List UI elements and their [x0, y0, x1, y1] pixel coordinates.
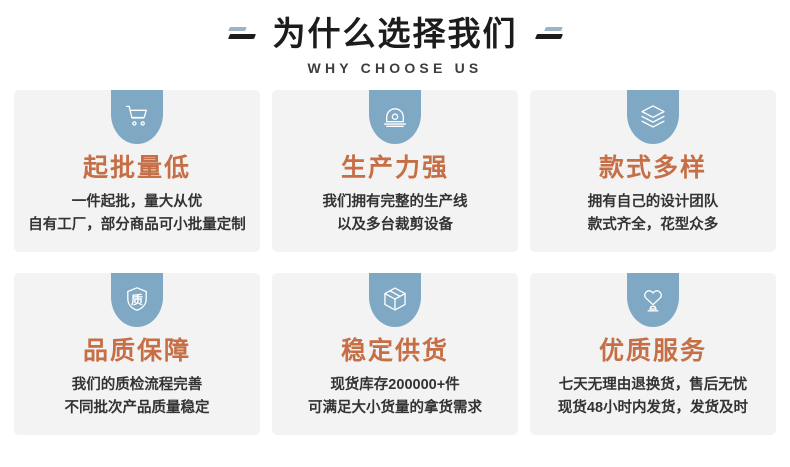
icon-badge — [627, 273, 679, 327]
card-body: 一件起批，量大从优 自有工厂，部分商品可小批量定制 — [20, 191, 254, 237]
card-title: 款式多样 — [530, 153, 776, 183]
icon-badge — [369, 90, 421, 144]
slanted-dash-icon-right — [534, 23, 564, 45]
package-box-icon — [381, 285, 409, 313]
card-body: 现货库存200000+件 可满足大小货量的拿货需求 — [278, 374, 512, 420]
page-title: 为什么选择我们 — [273, 13, 518, 55]
icon-badge — [111, 90, 163, 144]
card-body-line: 现货库存200000+件 — [278, 374, 512, 397]
section-header: 为什么选择我们 WHY CHOOSE US — [0, 0, 790, 76]
card-body-line: 可满足大小货量的拿货需求 — [278, 397, 512, 420]
card-body: 我们的质检流程完善 不同批次产品质量稳定 — [20, 374, 254, 420]
card-body: 七天无理由退换货，售后无忧 现货48小时内发货，发货及时 — [536, 374, 770, 420]
card-body: 拥有自己的设计团队 款式齐全，花型众多 — [536, 191, 770, 237]
alarm-bell-icon — [381, 102, 409, 130]
card-title: 稳定供货 — [272, 336, 518, 366]
quality-shield-glyph: 质 — [131, 294, 143, 306]
layers-stack-icon — [639, 102, 667, 130]
title-row: 为什么选择我们 — [0, 13, 790, 55]
card-body-line: 我们拥有完整的生产线 — [278, 191, 512, 214]
card-body-line: 我们的质检流程完善 — [20, 374, 254, 397]
card-body-line: 款式齐全，花型众多 — [536, 214, 770, 237]
feature-card: 起批量低 一件起批，量大从优 自有工厂，部分商品可小批量定制 — [14, 90, 260, 252]
card-body-line: 自有工厂，部分商品可小批量定制 — [20, 214, 254, 237]
card-title: 生产力强 — [272, 153, 518, 183]
card-body-line: 不同批次产品质量稳定 — [20, 397, 254, 420]
shopping-cart-icon — [123, 102, 151, 130]
feature-card: 稳定供货 现货库存200000+件 可满足大小货量的拿货需求 — [272, 273, 518, 435]
card-body-line: 拥有自己的设计团队 — [536, 191, 770, 214]
card-title: 品质保障 — [14, 336, 260, 366]
card-title: 起批量低 — [14, 153, 260, 183]
icon-badge — [627, 90, 679, 144]
slanted-dash-icon-left — [227, 23, 257, 45]
icon-badge: 质 — [111, 273, 163, 327]
feature-card: 优质服务 七天无理由退换货，售后无忧 现货48小时内发货，发货及时 — [530, 273, 776, 435]
card-body: 我们拥有完整的生产线 以及多台裁剪设备 — [278, 191, 512, 237]
heart-service-icon — [639, 285, 667, 313]
feature-card: 款式多样 拥有自己的设计团队 款式齐全，花型众多 — [530, 90, 776, 252]
icon-badge — [369, 273, 421, 327]
page-subtitle: WHY CHOOSE US — [0, 60, 790, 76]
card-body-line: 一件起批，量大从优 — [20, 191, 254, 214]
feature-card-grid: 起批量低 一件起批，量大从优 自有工厂，部分商品可小批量定制 生产力强 我们拥有… — [14, 90, 776, 435]
card-body-line: 现货48小时内发货，发货及时 — [536, 397, 770, 420]
feature-card: 生产力强 我们拥有完整的生产线 以及多台裁剪设备 — [272, 90, 518, 252]
card-title: 优质服务 — [530, 336, 776, 366]
feature-card: 质 品质保障 我们的质检流程完善 不同批次产品质量稳定 — [14, 273, 260, 435]
why-choose-us-section: 为什么选择我们 WHY CHOOSE US 起批量低 一件起批，量大从优 自有工… — [0, 0, 790, 467]
card-body-line: 以及多台裁剪设备 — [278, 214, 512, 237]
card-body-line: 七天无理由退换货，售后无忧 — [536, 374, 770, 397]
